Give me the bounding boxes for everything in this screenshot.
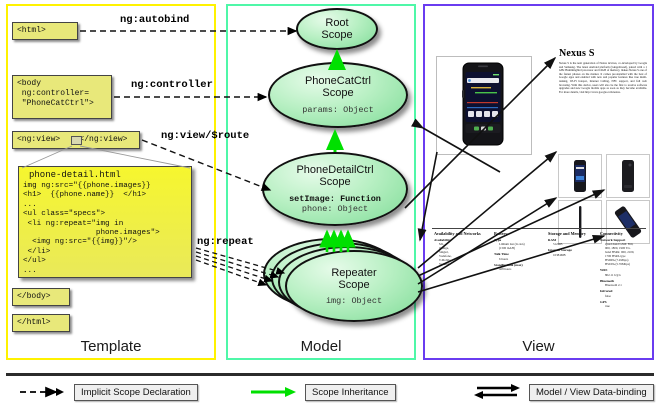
panel-label-model: Model [226, 338, 416, 355]
panel-label-template: Template [6, 338, 216, 355]
spec-column-availability: Availability and Networks Availability M… [434, 231, 492, 266]
edge-label-autobind: ng:autobind [120, 14, 189, 26]
snippet-filename: phone-detail.html [23, 169, 187, 182]
thumbnail-front[interactable] [558, 154, 602, 198]
spec-value-internal-storage: 16384MB [548, 253, 600, 257]
spec-value-network-support: Quad-band GSM: 850,900, 1800, 1900 Tri-b… [600, 242, 652, 266]
edge-label-controller: ng:controller [131, 79, 213, 91]
spec-column-connectivity: Connectivity Network Support Quad-band G… [600, 231, 652, 308]
scope-root-title-line2: Scope [321, 29, 352, 41]
partial-template-snippet: phone-detail.html img ng:src="{{phone.im… [18, 166, 192, 278]
code-html-open-tag: <html> [12, 22, 78, 40]
spec-value-infrared: false [600, 294, 652, 298]
legend-label-scope-inheritance: Scope Inheritance [305, 384, 396, 401]
spec-value-talk-time: 6 hours [494, 257, 546, 261]
legend-item-data-binding: Model / View Data-binding [473, 384, 654, 400]
legend-label-implicit-scope: Implicit Scope Declaration [74, 384, 198, 401]
scope-repeater-attr-img: img: Object [326, 296, 382, 306]
spec-value-gps: true [600, 304, 652, 308]
scope-phonecatctrl: PhoneCatCtrl Scope params: Object [268, 62, 408, 128]
spec-column-battery: Battery Type Lithium Ion (Li-Ion)(1500 m… [494, 231, 546, 271]
diagram-stage: <html> <body ng:controller= "PhoneCatCtr… [0, 0, 660, 420]
double-arrow-icon [473, 383, 521, 401]
spec-value-ram: 512MB [548, 242, 600, 246]
spec-header-battery: Battery [494, 231, 546, 236]
scope-root-title-line1: Root [325, 17, 348, 29]
scope-phonedetailctrl: PhoneDetailCtrl Scope setImage: Function… [262, 152, 408, 226]
legend-divider [6, 373, 654, 376]
spec-column-storage: Storage and Memory RAM 512MB Internal St… [548, 231, 600, 257]
scope-phonecatctrl-title-line2: Scope [322, 87, 353, 99]
spec-value-battery-type: Lithium Ion (Li-Ion)(1500 mAH) [494, 242, 546, 250]
edge-label-ngview: ng:view/$route [161, 130, 249, 142]
scope-phonecatctrl-title-line1: PhoneCatCtrl [305, 75, 371, 87]
product-title: Nexus S [559, 48, 595, 59]
scope-phonedetailctrl-title-line2: Scope [319, 176, 350, 188]
legend-item-implicit-scope: Implicit Scope Declaration [18, 384, 198, 400]
green-arrow-icon [249, 385, 297, 399]
code-body-open-tag: <body ng:controller= "PhoneCatCtrl"> [12, 75, 112, 119]
code-body-close-tag: </body> [12, 288, 70, 306]
edge-label-ngrepeat: ng:repeat [197, 236, 254, 248]
scope-root: Root Scope [296, 8, 378, 50]
scope-phonedetailctrl-title-line1: PhoneDetailCtrl [296, 164, 373, 176]
legend-label-data-binding: Model / View Data-binding [529, 384, 654, 401]
scope-phonedetailctrl-attr-setimage: setImage: Function [289, 194, 381, 204]
spec-value-standby: 428 hours [494, 267, 546, 271]
spec-header-storage: Storage and Memory [548, 231, 600, 236]
code-html-close-tag: </html> [12, 314, 70, 332]
spec-header-availability: Availability and Networks [434, 231, 492, 236]
spec-value-availability: M1,Orange,Singtel,Vodafone,T-Mobile,Voda… [434, 242, 492, 266]
dashed-arrow-icon [18, 385, 66, 399]
legend-item-scope-inheritance: Scope Inheritance [249, 384, 396, 400]
scope-repeater: Repeater Scope img: Object [285, 250, 423, 322]
product-description: Nexus S is the next generation of Nexus … [559, 62, 647, 94]
phone-hero-image [462, 62, 504, 146]
spec-header-connectivity: Connectivity [600, 231, 652, 236]
spec-table-divider [432, 228, 646, 229]
scope-phonecatctrl-attr-params: params: Object [302, 105, 373, 115]
scope-repeater-title-line1: Repeater [331, 267, 376, 279]
panel-label-view: View [423, 338, 654, 355]
scope-phonedetailctrl-attr-phone: phone: Object [302, 204, 368, 214]
snippet-code: img ng:src="{{phone.images}} <h1> {{phon… [23, 182, 187, 276]
spec-value-bluetooth: Bluetooth 2.1 [600, 283, 652, 287]
ngview-slot-icon [71, 136, 82, 145]
thumbnail-back[interactable] [606, 154, 650, 198]
spec-value-wifi: 802.11 b/g/n [600, 273, 652, 277]
scope-repeater-title-line2: Scope [338, 279, 369, 291]
